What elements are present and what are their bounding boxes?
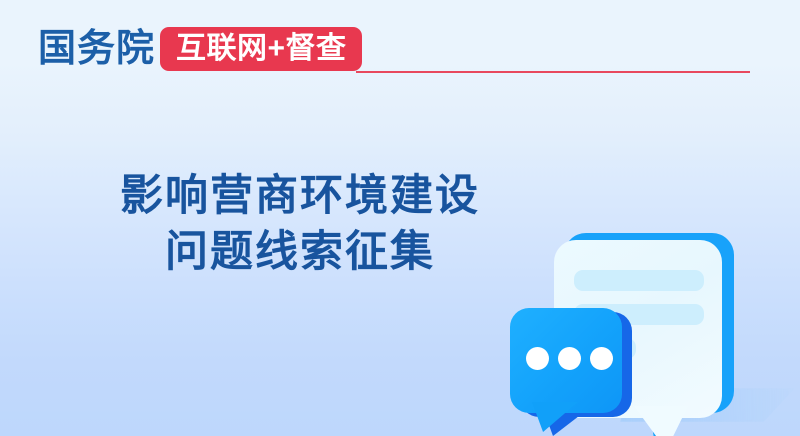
banner: 国务院 互联网+督查 影响营商环境建设 问题线索征集 <box>0 0 800 436</box>
ellipsis-dot-1-icon <box>526 347 549 370</box>
bubble-text-bar-1 <box>574 270 704 291</box>
ellipsis-dot-3-icon <box>590 347 613 370</box>
speech-bubbles-illustration <box>480 210 800 436</box>
banner-header: 国务院 互联网+督查 <box>0 0 800 90</box>
internet-plus-supervision-badge: 互联网+督查 <box>160 27 362 71</box>
header-divider-rule <box>356 71 750 73</box>
badge-label: 互联网+督查 <box>176 34 347 64</box>
gov-logo-text: 国务院 <box>38 27 155 71</box>
ellipsis-dot-2-icon <box>558 347 581 370</box>
